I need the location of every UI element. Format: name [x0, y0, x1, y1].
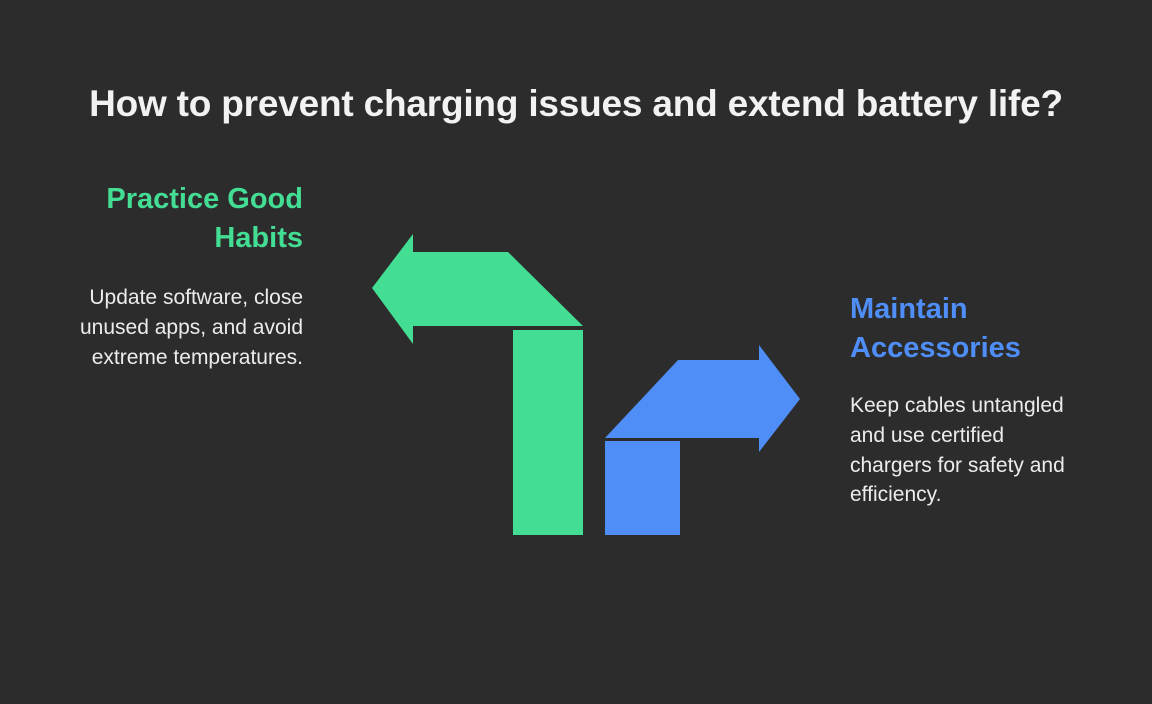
- blue-arrow-group: [605, 345, 800, 535]
- green-arrow-band-icon: [372, 234, 583, 344]
- blue-arrow-column: [605, 441, 680, 535]
- green-arrow-group: [372, 234, 583, 535]
- callout-body-left: Update software, close unused apps, and …: [60, 283, 303, 372]
- blue-arrow-band-icon: [605, 345, 800, 452]
- callout-practice-good-habits: Practice Good Habits Update software, cl…: [60, 180, 303, 372]
- callout-body-right: Keep cables untangled and use certified …: [850, 391, 1082, 510]
- callout-heading-left: Practice Good Habits: [60, 180, 303, 259]
- callout-maintain-accessories: Maintain Accessories Keep cables untangl…: [850, 290, 1082, 510]
- slide-canvas: How to prevent charging issues and exten…: [0, 0, 1152, 704]
- callout-heading-right: Maintain Accessories: [850, 290, 1082, 369]
- green-arrow-column: [513, 330, 583, 535]
